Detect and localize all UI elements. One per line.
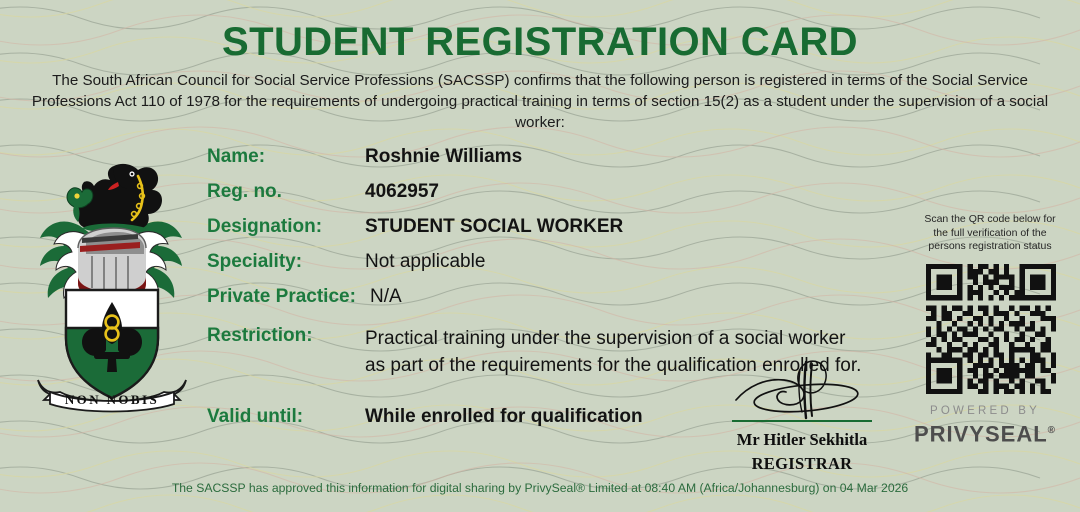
field-value: Roshnie Williams [365,146,522,168]
field-label: Reg. no. [207,181,282,203]
coat-of-arms-emblem: NON NOBIS [22,142,200,414]
restriction-line-1: Practical training under the supervision… [365,328,846,349]
signature-line [732,420,872,422]
student-registration-card: STUDENT REGISTRATION CARD The South Afri… [0,0,1080,512]
approval-footer: The SACSSP has approved this information… [0,481,1080,495]
field-label: Restriction: [207,325,313,347]
field-value: Not applicable [365,251,485,273]
handwritten-signature [722,360,882,422]
field-value: STUDENT SOCIAL WORKER [365,216,623,238]
field-row-speciality: Speciality: Not applicable [207,251,907,286]
registrar-name: Mr Hitler Sekhitla [712,430,892,450]
registrar-role: REGISTRAR [712,454,892,474]
field-label: Valid until: [207,406,303,428]
emblem-motto: NON NOBIS [65,392,159,407]
field-label: Designation: [207,216,322,238]
page-title: STUDENT REGISTRATION CARD [0,20,1080,65]
field-label: Speciality: [207,251,302,273]
field-value: While enrolled for qualification [365,406,643,428]
field-row-reg-no: Reg. no. 4062957 [207,181,907,216]
field-value: N/A [370,286,402,308]
qr-caption-line-2: the full verification of the [933,227,1046,239]
field-row-designation: Designation: STUDENT SOCIAL WORKER [207,216,907,251]
field-value: 4062957 [365,181,439,203]
registered-trademark-icon: ® [1048,425,1056,436]
privyseal-name: PRIVYSEAL [914,421,1048,446]
qr-caption-line-1: Scan the QR code below for [924,213,1055,225]
field-label: Name: [207,146,265,168]
privyseal-brand: POWERED BY PRIVYSEAL® [900,404,1070,446]
registration-details: Name: Roshnie Williams Reg. no. 4062957 … [207,146,907,321]
qr-caption-line-3: persons registration status [928,240,1051,252]
qr-code[interactable] [918,264,1064,394]
field-label: Private Practice: [207,286,356,308]
powered-by-label: POWERED BY [900,404,1070,419]
intro-paragraph: The South African Council for Social Ser… [26,70,1054,133]
field-row-private-practice: Private Practice: N/A [207,286,907,321]
field-row-name: Name: Roshnie Williams [207,146,907,181]
privyseal-wordmark: PRIVYSEAL® [900,419,1070,446]
qr-instructions: Scan the QR code below for the full veri… [910,213,1070,254]
